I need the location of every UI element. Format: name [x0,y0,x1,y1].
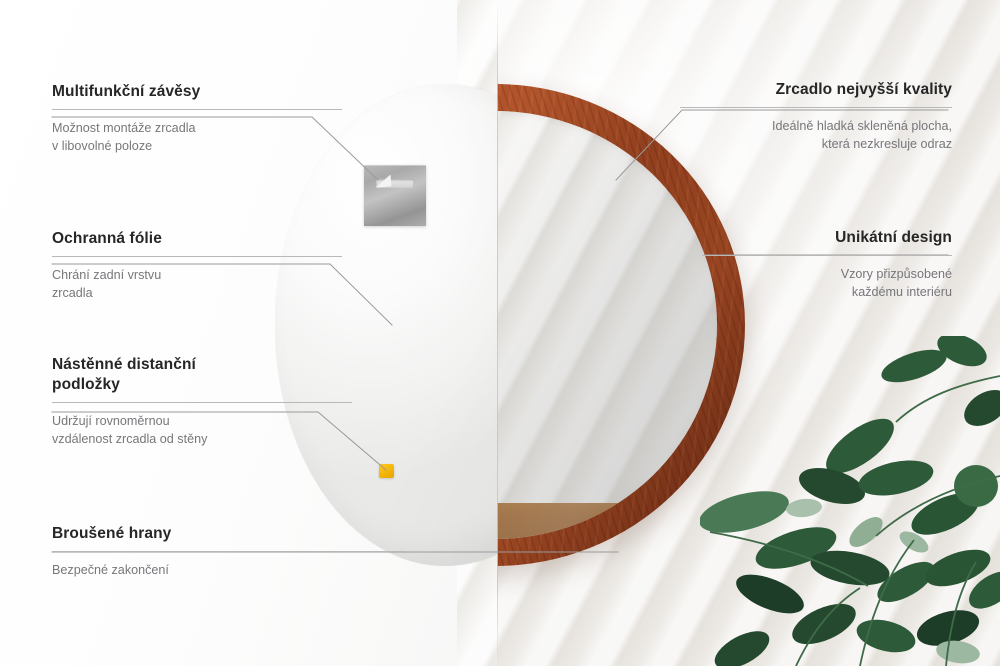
callout-rule [52,402,352,403]
callout-description: Chrání zadní vrstvu zrcadla [52,266,342,303]
mirror-back-shading [275,84,498,566]
callout-brousene-hrany: Broušené hrany Bezpečné zakončení [52,524,404,579]
callout-title: Ochranná fólie [52,229,342,249]
callout-description: Možnost montáže zrcadla v libovolné polo… [52,119,342,156]
panel-split-divider [497,0,498,666]
callout-title: Multifunkční závěsy [52,82,342,102]
callout-multifunkcni-zavesy: Multifunkční závěsy Možnost montáže zrca… [52,82,342,156]
callout-ochranna-folie: Ochranná fólie Chrání zadní vrstvu zrcad… [52,229,342,303]
hanging-bracket [364,165,426,226]
callout-rule [52,551,404,552]
callout-description: Udržují rovnoměrnou vzdálenost zrcadla o… [52,412,352,449]
infographic-stage: Multifunkční závěsy Možnost montáže zrca… [0,0,1000,666]
decorative-foliage [700,336,1000,666]
callout-nastenne-distancni-podlozky: Nástěnné distanční podložky Udržují rovn… [52,355,352,448]
callout-description: Ideálně hladká skleněná plocha, která ne… [680,117,952,154]
callout-title: Unikátní design [702,228,952,248]
callout-rule [52,109,342,110]
callout-description: Vzory přizpůsobené každému interiéru [702,265,952,302]
callout-title: Zrcadlo nejvyšší kvality [680,80,952,100]
callout-rule [680,107,952,108]
callout-title: Nástěnné distanční podložky [52,355,352,395]
callout-rule [702,255,952,256]
mirror-back-panel [275,84,498,566]
callout-zrcadlo-nejvyssi-kvality: Zrcadlo nejvyšší kvality Ideálně hladká … [680,80,952,154]
callout-description: Bezpečné zakončení [52,561,404,579]
wall-spacer-pad [379,464,394,478]
callout-rule [52,256,342,257]
callout-title: Broušené hrany [52,524,404,544]
bracket-keyhole-slot [376,179,414,188]
callout-unikatni-design: Unikátní design Vzory přizpůsobené každé… [702,228,952,302]
